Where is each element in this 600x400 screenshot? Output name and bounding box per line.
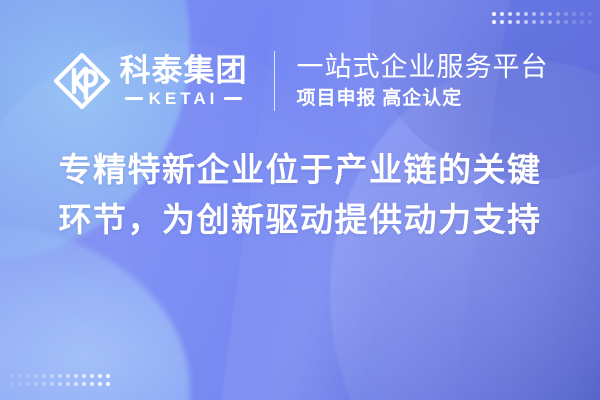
- dash-right-icon: [224, 97, 242, 100]
- decor-dot: [580, 20, 584, 24]
- decor-dot: [98, 382, 102, 386]
- promo-banner: 科泰集团 KETAI 一站式企业服务平台 项目申报 高企认定 专精特新企业位于产…: [0, 0, 600, 400]
- decor-dot: [532, 12, 536, 16]
- decor-dot: [556, 12, 560, 16]
- decor-dot: [548, 12, 552, 16]
- decor-dot: [556, 20, 560, 24]
- decor-dot: [18, 382, 22, 386]
- decor-dot: [26, 382, 30, 386]
- decor-dot: [572, 12, 576, 16]
- decor-dot: [50, 374, 54, 378]
- decor-dot: [516, 12, 520, 16]
- decor-dot-grid-bottom-left: [10, 374, 110, 386]
- decor-dot: [90, 374, 94, 378]
- header-divider: [274, 51, 275, 111]
- decor-dot: [540, 20, 544, 24]
- brand-wordmark: 科泰集团 KETAI: [120, 55, 248, 108]
- decor-dot: [26, 374, 30, 378]
- decor-dot: [524, 20, 528, 24]
- decor-dot: [588, 20, 592, 24]
- brand-name-cn: 科泰集团: [120, 55, 248, 88]
- decor-dot: [74, 374, 78, 378]
- decor-dot: [74, 382, 78, 386]
- decor-dot: [50, 382, 54, 386]
- decor-dot: [82, 382, 86, 386]
- headline-line-1: 专精特新企业位于产业链的关键: [59, 148, 542, 192]
- tagline-sub: 项目申报 高企认定: [297, 87, 549, 111]
- decor-dot: [492, 20, 496, 24]
- decor-dot: [508, 12, 512, 16]
- decor-dot: [66, 382, 70, 386]
- decor-dot: [516, 20, 520, 24]
- decor-dot: [548, 20, 552, 24]
- decor-dot: [58, 382, 62, 386]
- decor-dot: [580, 12, 584, 16]
- headline-line-2: 环节，为创新驱动提供动力支持: [59, 198, 542, 242]
- decor-dot: [564, 20, 568, 24]
- decor-dot-row: [492, 20, 592, 24]
- decor-dot-row: [492, 12, 592, 16]
- decor-dot: [18, 374, 22, 378]
- headline-block: 专精特新企业位于产业链的关键 环节，为创新驱动提供动力支持: [0, 148, 600, 241]
- brand-name-en-row: KETAI: [125, 90, 243, 107]
- decor-dot-row: [10, 382, 110, 386]
- decor-dot: [500, 12, 504, 16]
- decor-dot: [82, 374, 86, 378]
- decor-dot: [66, 374, 70, 378]
- decor-dot: [10, 374, 14, 378]
- decor-dot: [492, 12, 496, 16]
- decor-dot-grid-top-right: [492, 12, 592, 24]
- decor-dot: [34, 382, 38, 386]
- brand-lockup: 科泰集团 KETAI: [52, 51, 248, 111]
- decor-dot: [540, 12, 544, 16]
- dash-left-icon: [125, 97, 143, 100]
- decor-dot: [90, 382, 94, 386]
- decor-dot: [42, 374, 46, 378]
- decor-dot: [524, 12, 528, 16]
- decor-dot: [42, 382, 46, 386]
- tagline-main: 一站式企业服务平台: [297, 52, 549, 84]
- decor-dot: [98, 374, 102, 378]
- decor-dot: [508, 20, 512, 24]
- ketai-kp-diamond-logo-icon: [52, 51, 112, 111]
- decor-dot: [106, 382, 110, 386]
- decor-dot: [500, 20, 504, 24]
- decor-dot-row: [10, 374, 110, 378]
- decor-dot: [588, 12, 592, 16]
- decor-dot: [106, 374, 110, 378]
- decor-dot: [58, 374, 62, 378]
- tagline-block: 一站式企业服务平台 项目申报 高企认定: [297, 52, 549, 111]
- decor-dot: [532, 20, 536, 24]
- brand-name-en: KETAI: [149, 90, 219, 107]
- decor-dot: [564, 12, 568, 16]
- decor-dot: [34, 374, 38, 378]
- decor-dot: [572, 20, 576, 24]
- decor-dot: [10, 382, 14, 386]
- banner-header: 科泰集团 KETAI 一站式企业服务平台 项目申报 高企认定: [0, 40, 600, 122]
